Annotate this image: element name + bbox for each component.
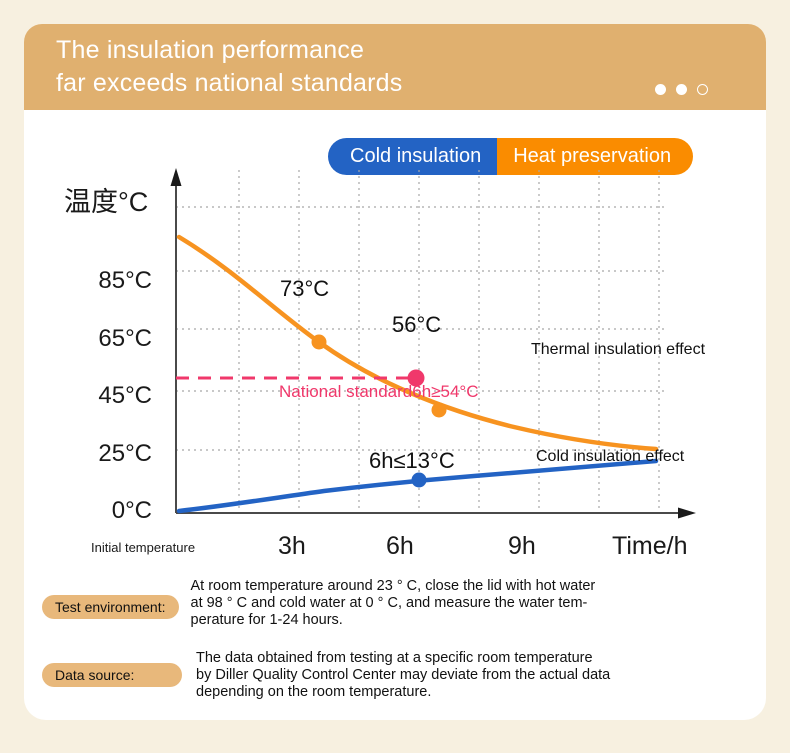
label-thermal-insulation-effect: Thermal insulation effect <box>531 341 705 359</box>
x-tick-6h: 6h <box>386 532 414 561</box>
data-label-6h-13c: 6h≤13°C <box>369 448 455 474</box>
carousel-dot-3-icon[interactable] <box>697 84 708 95</box>
carousel-dot-2-icon[interactable] <box>676 84 687 95</box>
marker-56c <box>432 403 447 418</box>
carousel-dots[interactable] <box>655 84 708 95</box>
badge-data-source: Data source: <box>42 663 182 687</box>
x-tick-initial-temperature: Initial temperature <box>91 540 195 555</box>
note-test-environment: Test environment: At room temperature ar… <box>42 578 731 629</box>
badge-test-environment: Test environment: <box>42 595 179 619</box>
y-tick-85: 85°C <box>60 267 152 295</box>
x-tick-9h: 9h <box>508 532 536 561</box>
x-axis <box>176 508 696 519</box>
marker-6h-13c <box>412 473 427 488</box>
y-tick-65: 65°C <box>60 325 152 353</box>
data-label-73c: 73°C <box>280 276 329 302</box>
x-tick-3h: 3h <box>278 532 306 561</box>
national-standard-label: National standard6h≥54°C <box>279 382 478 402</box>
data-label-56c: 56°C <box>392 312 441 338</box>
header-banner: The insulation performance far exceeds n… <box>24 24 766 110</box>
carousel-dot-1-icon[interactable] <box>655 84 666 95</box>
note-data-source-text: The data obtained from testing at a spec… <box>196 650 736 701</box>
y-axis <box>171 168 182 513</box>
marker-73c <box>312 335 327 350</box>
x-axis-title: Time/h <box>612 532 687 561</box>
note-data-source: Data source: The data obtained from test… <box>42 650 736 701</box>
note-test-environment-text: At room temperature around 23 ° C, close… <box>191 578 731 629</box>
y-axis-title: 温度°C <box>64 180 148 219</box>
label-cold-insulation-effect: Cold insulation effect <box>536 448 684 466</box>
y-tick-0: 0°C <box>60 497 152 525</box>
y-tick-25: 25°C <box>60 440 152 468</box>
y-tick-45: 45°C <box>60 382 152 410</box>
